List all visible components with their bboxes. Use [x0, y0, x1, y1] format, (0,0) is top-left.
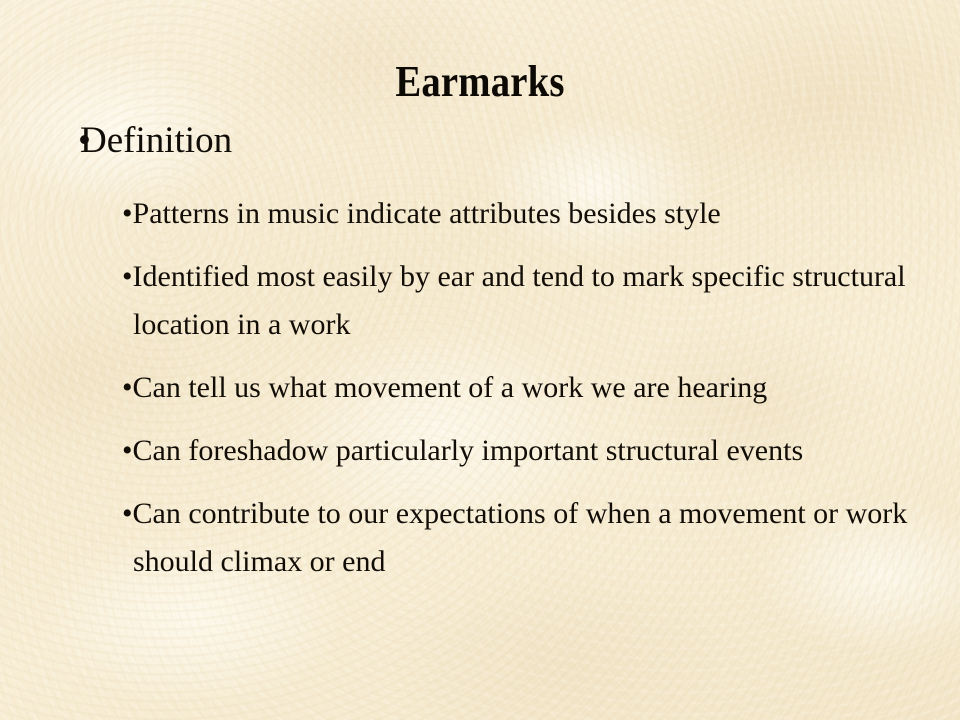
bullet-marker-icon: • [122, 197, 133, 230]
list-item: •Can foreshadow particularly important s… [0, 427, 960, 475]
bullet-level1-label: Definition [80, 120, 232, 161]
slide-title: Earmarks [58, 55, 903, 109]
bullet-marker-icon: • [78, 118, 91, 164]
list-item: •Can contribute to our expectations of w… [0, 490, 960, 586]
bullet-level2-list: •Patterns in music indicate attributes b… [0, 190, 960, 586]
bullet-marker-icon: • [122, 497, 133, 530]
list-item: •Patterns in music indicate attributes b… [0, 190, 960, 238]
slide-body: • Definition •Patterns in music indicate… [0, 118, 960, 601]
presentation-slide: Earmarks • Definition •Patterns in music… [0, 0, 960, 720]
list-item-label: Can contribute to our expectations of wh… [133, 497, 908, 578]
bullet-marker-icon: • [122, 260, 133, 293]
list-item-label: Can foreshadow particularly important st… [133, 434, 804, 467]
list-item-label: Can tell us what movement of a work we a… [133, 371, 768, 404]
bullet-marker-icon: • [122, 434, 133, 467]
bullet-level1-definition: • Definition [0, 118, 960, 164]
bullet-marker-icon: • [122, 371, 133, 404]
list-item-label: Identified most easily by ear and tend t… [133, 260, 906, 341]
list-item: •Can tell us what movement of a work we … [0, 364, 960, 412]
list-item-label: Patterns in music indicate attributes be… [133, 197, 721, 230]
list-item: •Identified most easily by ear and tend … [0, 253, 960, 349]
